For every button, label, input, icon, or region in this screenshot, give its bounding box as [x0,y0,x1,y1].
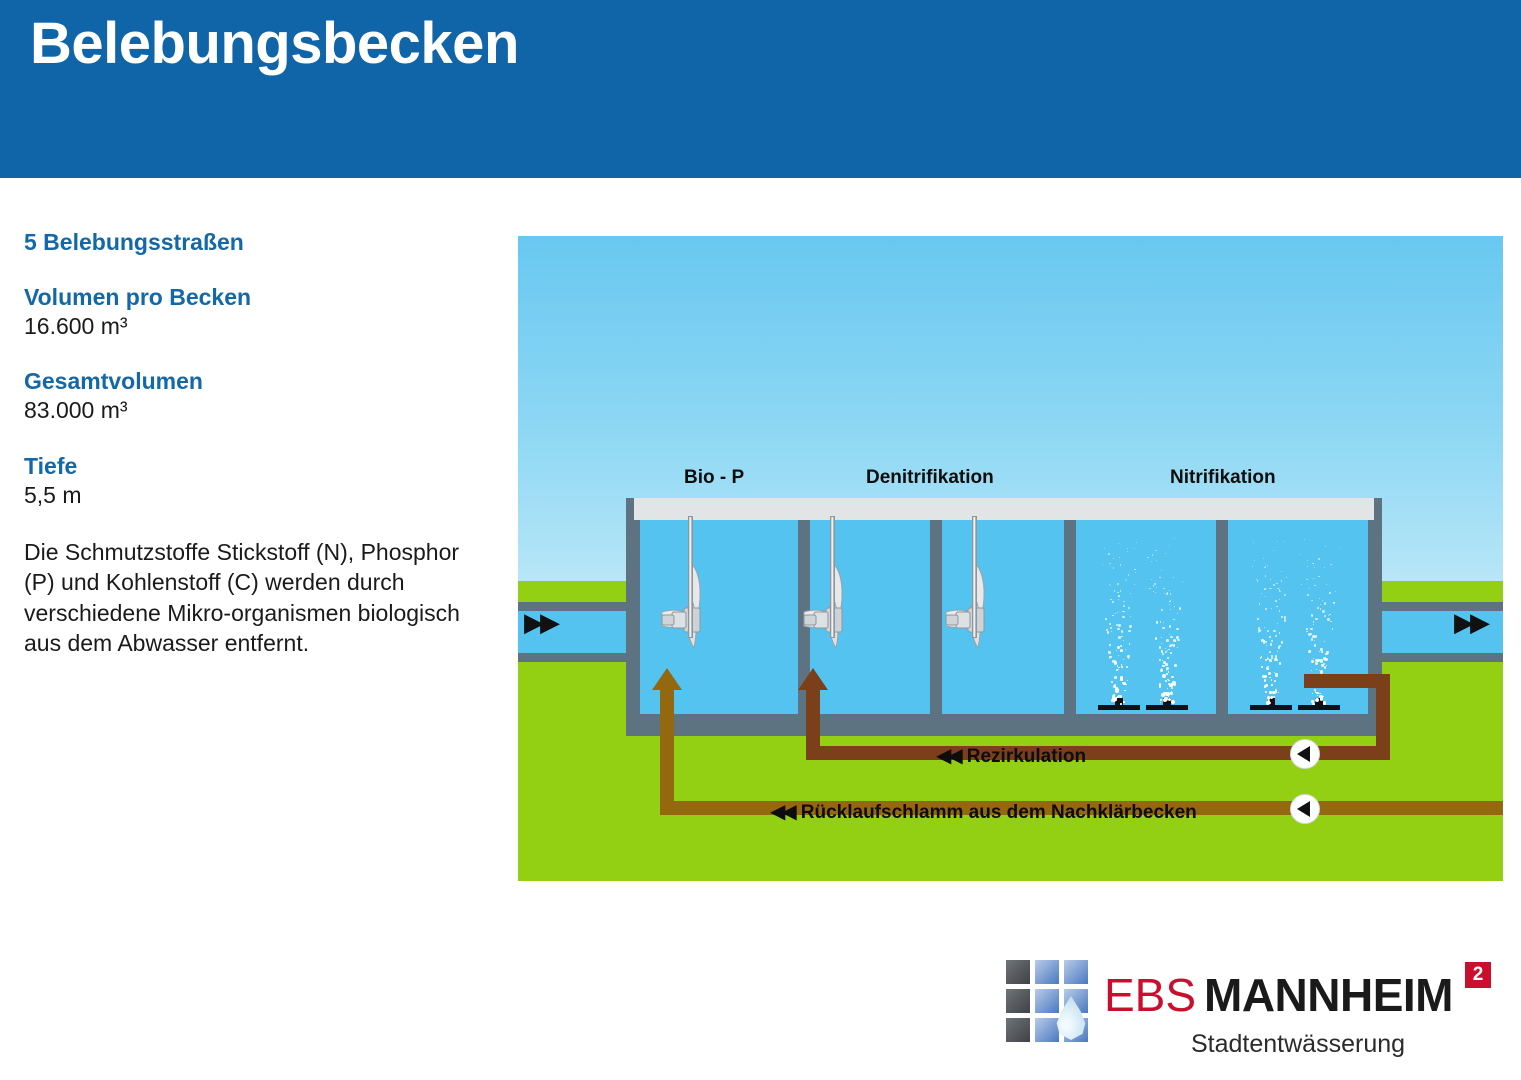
bubble [1152,554,1153,555]
bubble [1134,569,1135,570]
bubble [1319,670,1320,671]
bubble [1154,583,1156,585]
total-volume-value: 83.000 m³ [24,396,494,426]
bubble [1167,650,1168,651]
bubble [1269,636,1271,638]
bubble [1120,645,1122,647]
bubble [1274,680,1276,682]
bubble [1115,697,1117,699]
bubble [1322,600,1323,601]
bubble [1115,688,1119,692]
logo-subtitle: Stadtentwässerung [1191,1030,1405,1059]
zone-label-bio-p: Bio - P [684,467,744,489]
bubble [1301,584,1302,585]
bubble [1118,636,1121,639]
bubble [1308,650,1311,653]
bubble [1177,613,1179,615]
total-volume-label: Gesamtvolumen [24,367,494,396]
bubble [1283,541,1284,542]
bubble [1311,638,1313,640]
bubble [1113,685,1116,688]
bubble [1120,677,1124,681]
bubble [1310,628,1312,630]
bubble [1320,608,1322,610]
bubble [1169,684,1172,687]
bubble [1326,651,1328,653]
bubble [1108,553,1109,554]
ebs-mannheim-logo: EBS MANNHEIM 2 Stadtentwässerung [1006,958,1501,1068]
bubble [1276,583,1278,585]
bubble [1318,576,1320,578]
bubble [1156,587,1157,588]
bubble [1263,558,1264,559]
bubble [1110,627,1112,629]
bubble [1155,592,1156,593]
bubble [1165,651,1167,653]
bubble [1128,658,1129,659]
bubble [1257,618,1258,619]
bubble [1267,657,1268,658]
bubble [1109,623,1111,625]
bubble [1171,687,1173,689]
return-sludge-flow-text: Rücklaufschlamm aus dem Nachklärbecken [801,802,1197,823]
recirculation-pipe-vertical-left [806,688,820,760]
diffuser-icon [1098,705,1140,710]
logo-square [1006,960,1030,984]
bubble [1261,666,1263,668]
bubble [1153,585,1154,586]
info-block-depth: Tiefe 5,5 m [24,452,494,511]
bubble [1257,580,1258,581]
bubble [1134,548,1135,549]
bubble [1120,590,1121,591]
bubble [1312,635,1315,638]
bubble [1177,647,1178,648]
bubble [1116,669,1118,671]
bubble [1160,669,1163,672]
bubble [1314,640,1315,641]
bubble [1319,598,1320,599]
bubble [1120,564,1121,565]
bubble [1173,619,1175,621]
bubble [1121,666,1123,668]
bubble [1307,566,1308,567]
info-block-lines: 5 Belebungsstraßen [24,228,494,257]
bubble [1279,632,1280,633]
bubble [1306,628,1308,630]
bubble [1149,588,1151,590]
bubble [1110,563,1111,564]
bubble [1168,649,1169,650]
bubble [1127,551,1128,552]
bubble [1304,539,1305,540]
bubble [1155,550,1156,551]
bubble [1118,599,1119,600]
bubble [1314,644,1316,646]
bubble [1159,685,1162,688]
recirculation-pipe-top-right [1304,674,1390,688]
bubble [1269,588,1271,590]
bubble [1271,657,1273,659]
bubble [1163,588,1164,589]
bubble [1113,694,1115,696]
volume-per-basin-label: Volumen pro Becken [24,283,494,312]
aeration-column-1 [1096,534,1142,710]
info-block-volume-per-basin: Volumen pro Becken 16.600 m³ [24,283,494,342]
bubble [1129,643,1131,645]
bubble [1119,557,1120,558]
bubble [1125,649,1126,650]
bubble [1329,614,1330,615]
bubble [1114,676,1117,679]
bubble [1311,660,1314,663]
bubble [1339,547,1340,548]
bubble [1313,658,1314,659]
bubble [1265,641,1267,643]
bubble [1286,577,1287,578]
bubble [1324,567,1325,568]
bubble [1113,558,1114,559]
bubble [1307,560,1308,561]
bubble [1284,619,1287,622]
bubble [1314,567,1315,568]
bubble [1309,588,1310,589]
bubble [1277,541,1278,542]
recirculation-flow-label: ◀◀Rezirkulation [936,743,1086,768]
bubble [1258,632,1259,633]
bubble [1117,612,1118,613]
description-text: Die Schmutzstoffe Stickstoff (N), Phosph… [24,537,494,659]
bubble [1273,550,1274,551]
bubble [1108,651,1111,654]
bubble [1275,635,1277,637]
return-sludge-pump-icon [1290,794,1320,824]
bubble [1264,679,1267,682]
logo-square [1006,989,1030,1013]
bubble [1271,684,1272,685]
bubble [1105,618,1107,620]
bubble [1324,641,1325,642]
bubble [1169,590,1170,591]
bubble [1326,665,1327,666]
bubble [1162,653,1164,655]
diffuser-icon [1298,705,1340,710]
bubble [1123,701,1125,703]
chamber-divider-4 [1216,520,1228,714]
bubble [1159,659,1161,661]
bubble [1170,636,1172,638]
bubble [1136,542,1137,543]
logo-square [1035,960,1059,984]
bubble [1107,631,1109,633]
bubble [1111,681,1113,683]
bubble [1279,662,1282,665]
bubble [1168,671,1169,672]
bubble [1165,553,1166,554]
bubble [1174,664,1177,667]
bubble [1153,591,1154,592]
bubble [1279,599,1281,601]
info-panel: 5 Belebungsstraßen Volumen pro Becken 16… [24,228,494,659]
bubble [1322,610,1324,612]
bubble [1323,696,1324,697]
bubble [1307,594,1309,596]
bubble [1120,703,1122,705]
bubble [1312,693,1313,694]
bubble [1156,621,1159,624]
bubble [1128,630,1131,633]
bubble [1126,580,1127,581]
bubble [1271,588,1272,589]
bubble [1165,680,1167,682]
bubble [1127,680,1128,681]
zone-label-nitrification: Nitrifikation [1170,467,1276,489]
bubble [1321,697,1323,699]
outlet-flow-arrow-icon: ▶▶ [1454,610,1486,636]
bubble [1265,608,1267,610]
bubble [1314,585,1316,587]
bubble [1279,591,1280,592]
bubble [1169,601,1171,603]
bubble [1127,548,1128,549]
bubble [1275,673,1279,677]
bubble [1276,606,1278,608]
bubble [1284,616,1286,618]
bubble [1269,651,1271,653]
bubble [1125,684,1126,685]
bubble [1272,691,1275,694]
bubble [1324,615,1326,617]
bubble [1306,579,1307,580]
bubble [1170,609,1171,610]
bubble [1329,592,1330,593]
bubble [1266,667,1269,670]
bubble [1151,579,1152,580]
bubble [1269,677,1270,678]
bubble [1326,584,1327,585]
bubble [1116,650,1117,651]
bubble [1270,579,1271,580]
bubble [1102,564,1103,565]
bubble [1169,604,1170,605]
bubble [1169,625,1171,627]
bubble [1113,567,1114,568]
bubble [1254,560,1255,561]
bubble [1273,584,1275,586]
lines-count-label: 5 Belebungsstraßen [24,228,494,257]
bubble [1135,572,1136,573]
bubble [1123,611,1124,612]
bubble [1161,570,1162,571]
bubble [1109,644,1111,646]
bubble [1284,594,1286,596]
bubble [1324,602,1326,604]
bubble [1320,648,1322,650]
return-sludge-flow-label: ◀◀Rücklaufschlamm aus dem Nachklärbecken [770,799,1197,824]
bubble [1332,628,1333,629]
bubble [1111,631,1112,632]
bubble [1170,593,1171,594]
bubble [1163,661,1166,664]
mixer-mast [830,516,835,638]
bubble [1117,583,1119,585]
bubble [1264,685,1266,687]
bubble [1118,543,1119,544]
return-sludge-arrow-up-icon [652,668,682,690]
bubble [1315,618,1318,621]
bubble [1170,692,1171,693]
bubble [1112,615,1114,617]
bubble [1166,639,1169,642]
bubble [1266,645,1267,646]
return-sludge-arrow-icon: ◀◀ [770,799,793,823]
bubble [1163,622,1164,623]
logo-text-mannheim: MANNHEIM [1204,968,1453,1022]
bubble [1278,692,1279,693]
bubble [1170,644,1171,645]
bubble [1169,545,1170,546]
bubble [1177,639,1180,642]
aeration-column-3 [1248,534,1294,710]
bubble [1128,574,1129,575]
bubble [1265,691,1267,693]
bubble [1311,670,1312,671]
bubble [1160,702,1161,703]
bubble [1167,657,1169,659]
bubble [1173,644,1175,646]
bubble [1310,633,1312,635]
bubble [1167,688,1169,690]
bubble [1104,548,1105,549]
bubble [1171,700,1175,704]
bubble [1161,637,1162,638]
bubble [1313,624,1314,625]
bubble [1265,596,1266,597]
bubble [1306,631,1307,632]
process-diagram: ▶▶ ▶▶ [518,236,1503,881]
bubble [1118,595,1120,597]
bubble [1320,604,1321,605]
bubble [1156,560,1157,561]
bubble [1313,578,1314,579]
bubble [1117,628,1120,631]
bubble [1253,542,1254,543]
bubble [1281,641,1284,644]
bubble [1323,657,1326,660]
bubble [1265,575,1267,577]
bubble [1325,546,1326,547]
page-header: Belebungsbecken [0,0,1521,178]
bubble [1271,608,1272,609]
chamber-divider-2 [930,520,942,714]
bubble [1316,669,1317,670]
bubble [1271,640,1273,642]
bubble [1147,557,1148,558]
bubble [1281,580,1282,581]
bubble [1264,627,1265,628]
bubble [1271,661,1272,662]
bubble [1179,607,1181,609]
bubble [1162,627,1164,629]
bubble [1121,630,1123,632]
bubble [1169,634,1170,635]
bubble [1123,640,1124,641]
chamber-divider-3 [1064,520,1076,714]
bubble [1173,577,1174,578]
bubble [1259,603,1261,605]
bubble [1168,696,1169,697]
diffuser-icon [1250,705,1292,710]
bubble [1313,621,1314,622]
bubble [1134,584,1135,585]
logo-text-ebs: EBS [1104,968,1196,1022]
bubble [1174,606,1176,608]
bubble [1115,613,1117,615]
bubble [1114,590,1116,592]
bubble [1279,610,1280,611]
bubble [1118,624,1120,626]
depth-label: Tiefe [24,452,494,481]
bubble [1127,655,1130,658]
inlet-flow-arrow-icon: ▶▶ [524,610,556,636]
bubble [1271,679,1272,680]
bubble [1273,630,1276,633]
bubble [1311,614,1313,616]
bubble [1118,667,1119,668]
bubble [1159,577,1160,578]
bubble [1162,665,1164,667]
bubble [1171,676,1173,678]
bubble [1151,561,1152,562]
bubble [1161,643,1162,644]
bubble [1330,621,1331,622]
bubble [1267,630,1269,632]
bubble [1312,563,1313,564]
bubble [1124,690,1125,691]
bubble [1319,651,1320,652]
bubble [1112,601,1114,603]
bubble [1265,566,1266,567]
propeller-icon [942,516,1014,696]
recirculation-pump-icon [1290,739,1320,769]
bubble [1277,623,1278,624]
logo-square [1064,960,1088,984]
recirculation-flow-text: Rezirkulation [967,746,1086,767]
bubble [1155,638,1157,640]
bubble [1117,592,1119,594]
bubble [1130,593,1131,594]
bubble [1300,554,1301,555]
bubble [1130,616,1132,618]
bubble [1118,655,1119,656]
bubble [1174,538,1175,539]
bubble [1261,593,1262,594]
bubble [1117,646,1119,648]
bubble [1311,600,1313,602]
bubble [1261,656,1263,658]
bubble [1173,639,1176,642]
bubble [1182,581,1184,583]
mixer-icon-3 [942,516,1014,696]
bubble [1324,666,1326,668]
mixer-mast [688,516,693,638]
bubble [1166,670,1167,671]
bubble [1126,666,1128,668]
bubble [1166,593,1168,595]
bubble [1333,602,1335,604]
logo-superscript-badge: 2 [1465,962,1491,988]
bubble [1275,600,1277,602]
